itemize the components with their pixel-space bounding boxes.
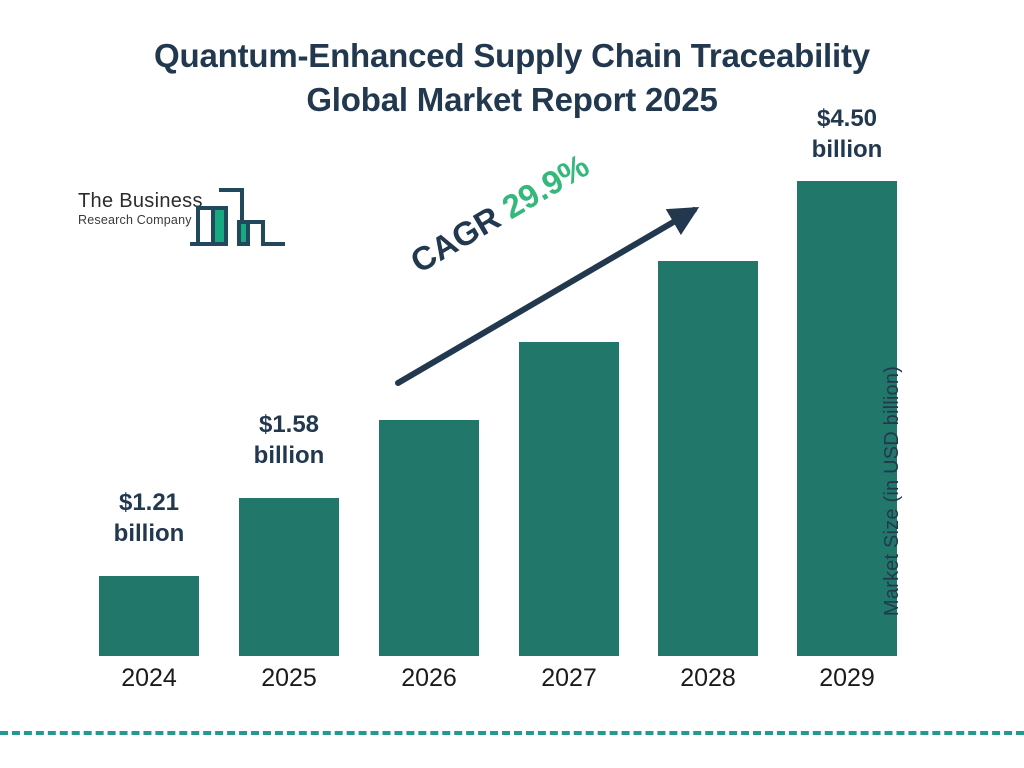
x-axis-tick-2026: 2026 [359, 662, 499, 694]
cagr-value: 29.9% [496, 147, 595, 226]
bar-2025[interactable] [239, 498, 339, 656]
chart-canvas: Quantum-Enhanced Supply Chain Traceabili… [0, 0, 1024, 768]
x-axis-tick-2028: 2028 [638, 662, 778, 694]
y-axis-title: Market Size (in USD billion) [881, 326, 904, 656]
bar-value-2029: $4.50 [777, 103, 917, 134]
x-axis-tick-2024: 2024 [79, 662, 219, 694]
bar-2027[interactable] [519, 342, 619, 656]
cagr-annotation: CAGR 29.9% [404, 147, 596, 281]
bar-value-2024: $1.21 [79, 487, 219, 518]
bar-value-label-2025: $1.58 billion [219, 409, 359, 471]
x-axis-tick-2027: 2027 [499, 662, 639, 694]
bar-2026[interactable] [379, 420, 479, 656]
x-axis-tick-2025: 2025 [219, 662, 359, 694]
bar-value-label-2029: $4.50 billion [777, 103, 917, 165]
cagr-label: CAGR [404, 199, 507, 280]
bar-unit-2025: billion [219, 440, 359, 471]
bar-value-2025: $1.58 [219, 409, 359, 440]
bar-unit-2029: billion [777, 134, 917, 165]
x-axis-tick-2029: 2029 [777, 662, 917, 694]
footer-divider [0, 731, 1024, 735]
plot-area: $1.21 billion $1.58 billion $4.50 billio… [0, 0, 1024, 768]
bar-unit-2024: billion [79, 518, 219, 549]
bar-2028[interactable] [658, 261, 758, 656]
bar-value-label-2024: $1.21 billion [79, 487, 219, 549]
bar-2024[interactable] [99, 576, 199, 656]
